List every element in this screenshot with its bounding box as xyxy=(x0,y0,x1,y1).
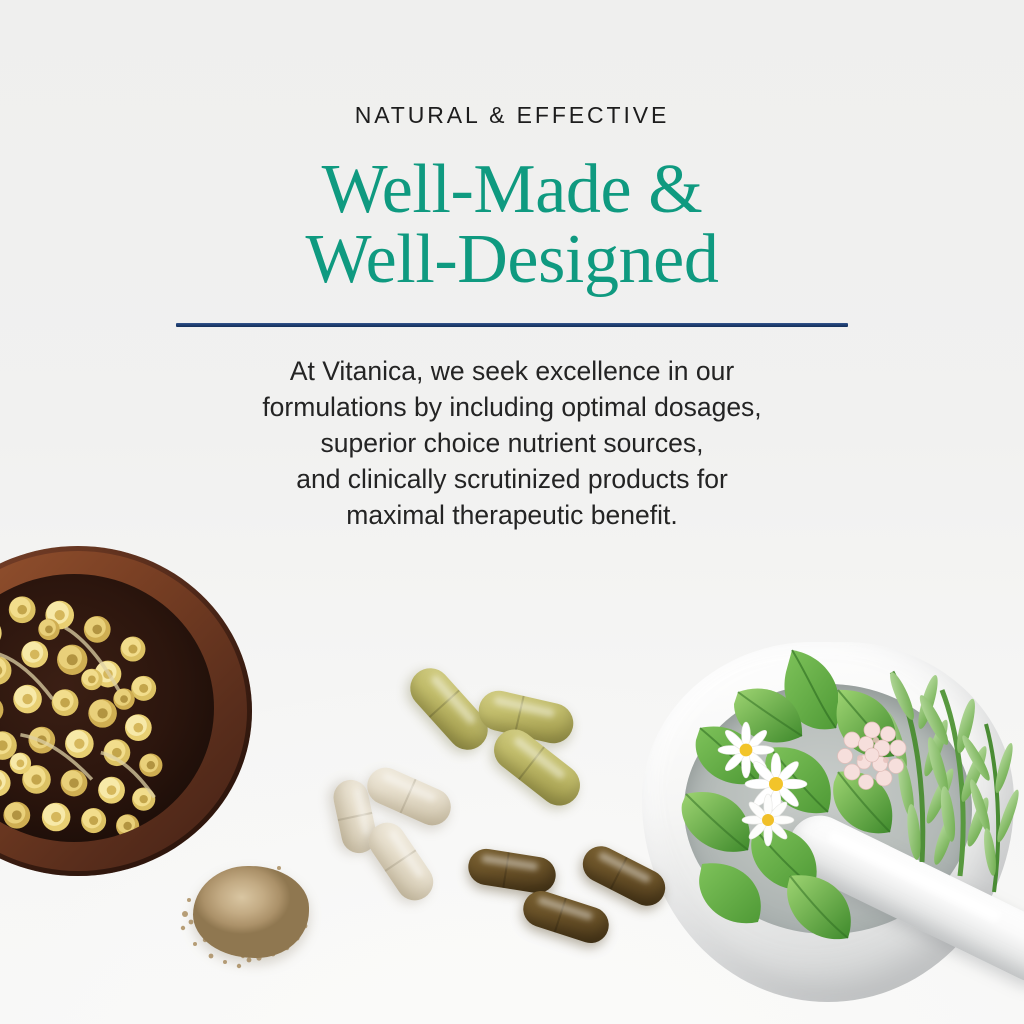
body-line: and clinically scrutinized products for xyxy=(0,461,1024,497)
capsule-seam xyxy=(385,850,417,872)
body-line: maximal therapeutic benefit. xyxy=(0,497,1024,533)
powder-granule xyxy=(187,898,191,902)
eyebrow-label: NATURAL & EFFECTIVE xyxy=(0,104,1024,127)
powder-granule xyxy=(277,866,281,870)
body-line: formulations by including optimal dosage… xyxy=(0,389,1024,425)
divider-wrap xyxy=(0,323,1024,327)
body-line: At Vitanica, we seek excellence in our xyxy=(0,353,1024,389)
page-title: Well-Made & Well-Designed xyxy=(0,155,1024,295)
capsule-seam xyxy=(400,779,417,814)
powder-granule xyxy=(193,942,197,946)
capsule-seam xyxy=(338,811,373,820)
powder-granule xyxy=(181,926,185,930)
headline-line-1: Well-Made & xyxy=(0,155,1024,225)
capsule-seam xyxy=(610,857,628,890)
cream-tablet-2 xyxy=(361,762,456,832)
marketing-card: NATURAL & EFFECTIVE Well-Made & Well-Des… xyxy=(0,0,1024,1024)
capsule-seam xyxy=(502,852,510,888)
capsule-seam xyxy=(554,898,567,933)
headline-line-2: Well-Designed xyxy=(0,225,1024,295)
brown-capsule-2 xyxy=(577,840,672,912)
capsule-seam xyxy=(429,690,460,718)
cream-tablet-3 xyxy=(362,816,441,908)
powder-granule xyxy=(223,960,227,964)
brown-capsule-1 xyxy=(466,846,559,895)
body-line: superior choice nutrient sources, xyxy=(0,425,1024,461)
brown-capsule-3 xyxy=(519,886,614,947)
powder-granule xyxy=(209,954,214,959)
text-block: NATURAL & EFFECTIVE Well-Made & Well-Des… xyxy=(0,0,1024,533)
body-paragraph: At Vitanica, we seek excellence in our f… xyxy=(0,353,1024,533)
capsule-seam xyxy=(518,747,545,781)
powder-granule xyxy=(237,964,241,968)
powder-granule xyxy=(247,958,252,963)
powder-granule xyxy=(182,911,188,917)
navy-rule xyxy=(176,323,848,327)
herbal-powder-pile xyxy=(175,852,325,970)
powder-mound xyxy=(193,866,309,958)
